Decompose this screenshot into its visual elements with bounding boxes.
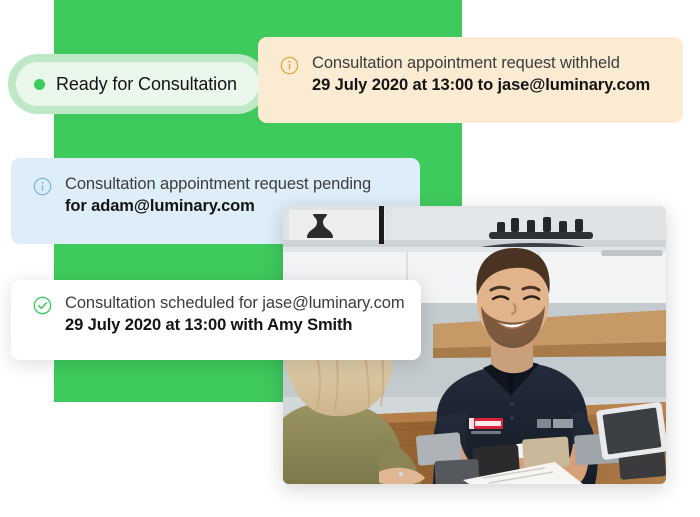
status-badge-inner: Ready for Consultation [16, 62, 259, 106]
notification-text-scheduled: Consultation scheduled for jase@luminary… [65, 294, 404, 335]
notification-card-withheld[interactable]: Consultation appointment request withhel… [258, 37, 683, 123]
status-badge-label: Ready for Consultation [56, 74, 237, 95]
notification-text-withheld: Consultation appointment request withhel… [312, 54, 650, 95]
info-circle-icon [280, 56, 299, 80]
notification-detail: 29 July 2020 at 13:00 to jase@luminary.c… [312, 76, 650, 95]
notification-title: Consultation scheduled for jase@luminary… [65, 294, 404, 313]
promo-illustration: Ready for Consultation Consultation appo… [0, 0, 700, 517]
check-circle-icon [33, 296, 52, 320]
notification-title: Consultation appointment request pending [65, 175, 371, 194]
status-dot-icon [34, 79, 45, 90]
status-badge[interactable]: Ready for Consultation [8, 54, 267, 114]
notification-detail: 29 July 2020 at 13:00 with Amy Smith [65, 316, 404, 335]
notification-title: Consultation appointment request withhel… [312, 54, 650, 73]
notification-card-scheduled[interactable]: Consultation scheduled for jase@luminary… [11, 280, 421, 360]
info-circle-icon [33, 177, 52, 201]
